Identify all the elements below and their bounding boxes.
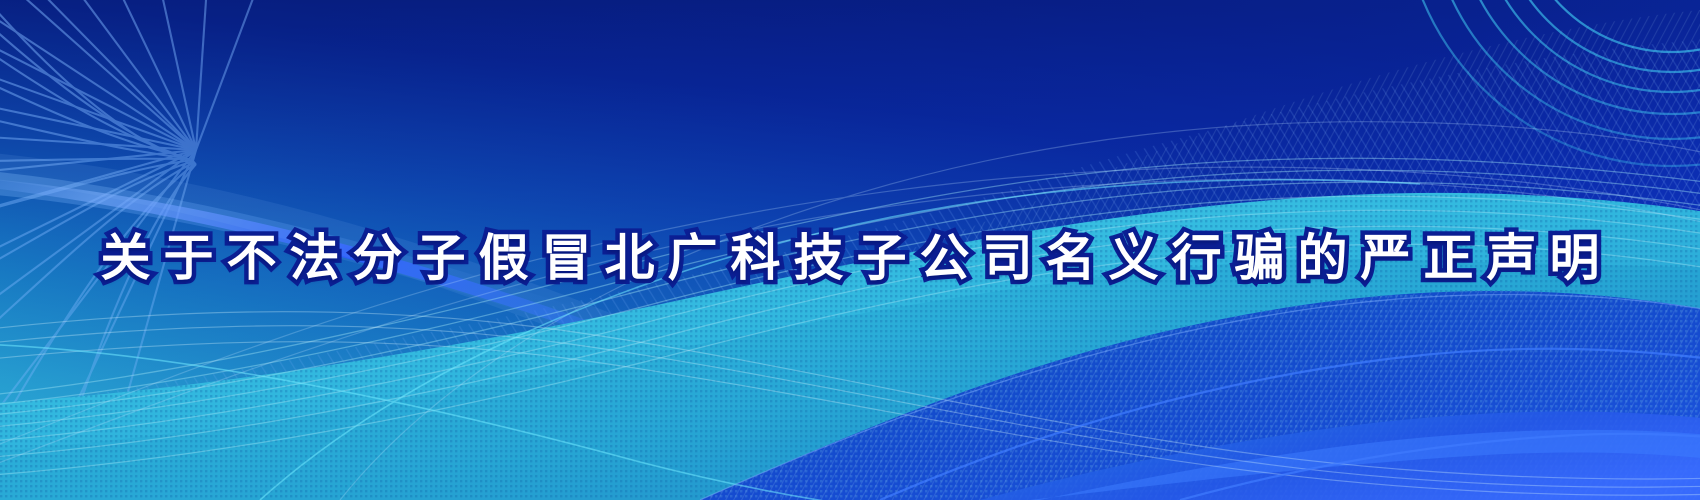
wave-contour-lines (0, 0, 1700, 500)
announcement-banner: 关于不法分子假冒北广科技子公司名义行骗的严正声明 (0, 0, 1700, 500)
